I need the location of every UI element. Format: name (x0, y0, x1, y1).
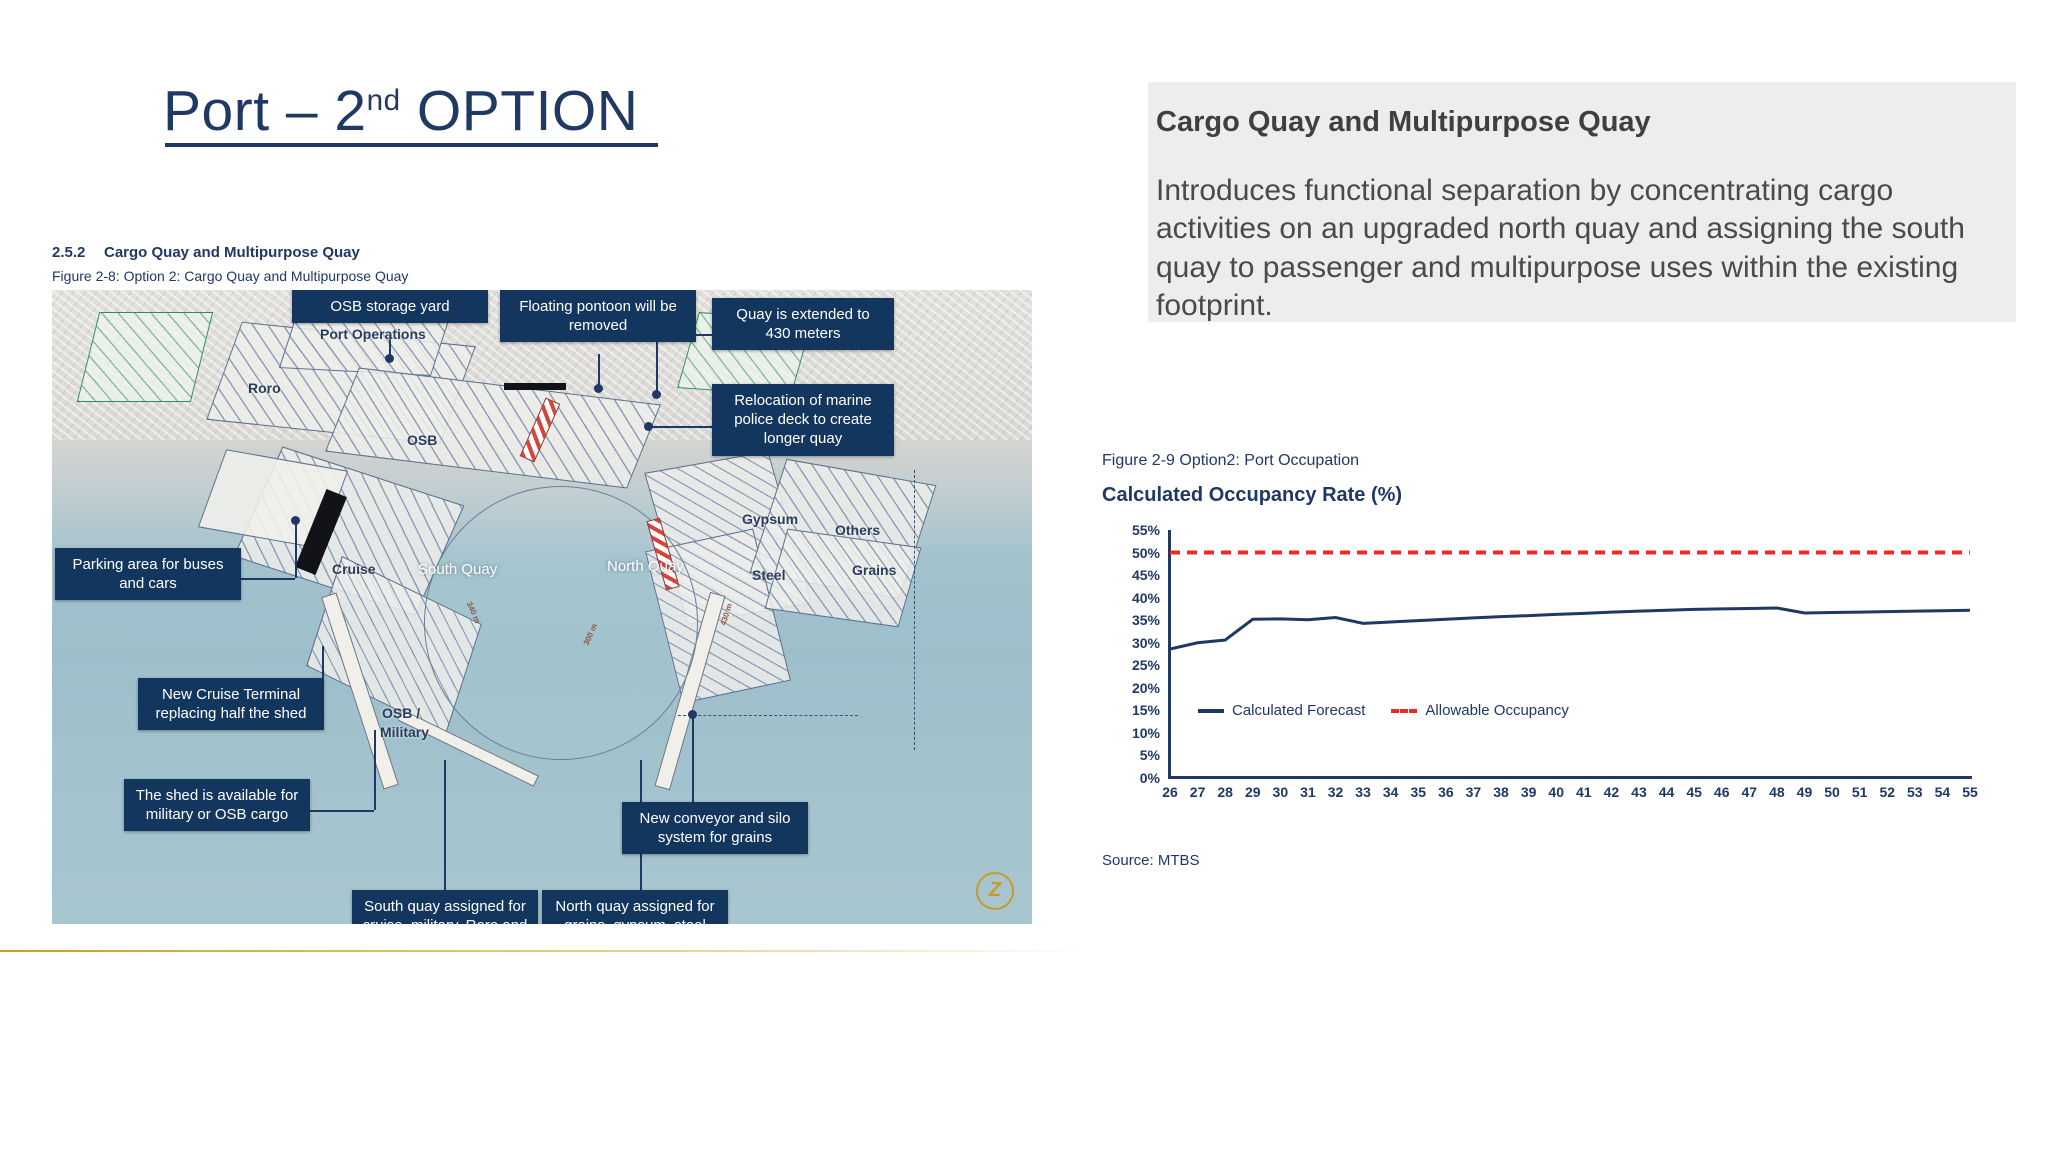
chart-figure-label: Figure 2-9 Option2: Port Occupation (1102, 452, 1359, 470)
callout-floating-pontoon[interactable]: Floating pontoon will be removed (500, 290, 696, 342)
chart-y-tick: 5% (1140, 747, 1160, 763)
chart-series-svg (1170, 530, 1970, 778)
map-label-osb-military-2: Military (380, 724, 429, 740)
chart-x-tick: 40 (1548, 784, 1564, 800)
map-label-others: Others (835, 522, 880, 538)
chart-x-tick: 41 (1576, 784, 1592, 800)
map-label-north-quay: North Quay (607, 558, 684, 575)
summary-panel-body: Introduces functional separation by conc… (1156, 172, 1986, 326)
chart-x-tick: 52 (1879, 784, 1895, 800)
leader-quay-extended-v (656, 334, 658, 394)
chart-x-tick: 38 (1493, 784, 1509, 800)
chart-x-tick: 28 (1217, 784, 1233, 800)
leader-dot-parking (291, 516, 300, 525)
chart-x-tick: 33 (1355, 784, 1371, 800)
chart-x-tick: 31 (1300, 784, 1316, 800)
chart-title: Calculated Occupancy Rate (%) (1102, 484, 1402, 507)
chart-x-tick: 29 (1245, 784, 1261, 800)
chart-x-tick: 49 (1797, 784, 1813, 800)
chart-y-tick: 0% (1140, 770, 1160, 786)
chart-x-tick: 53 (1907, 784, 1923, 800)
title-underline (165, 143, 658, 147)
chart-y-tick: 20% (1132, 680, 1160, 696)
page-title-tail: OPTION (401, 79, 639, 143)
leader-dot-pontoon (594, 384, 603, 393)
chart-x-tick: 55 (1962, 784, 1978, 800)
chart-y-tick: 25% (1132, 657, 1160, 673)
chart-y-tick: 15% (1132, 702, 1160, 718)
map-label-gypsum: Gypsum (742, 511, 798, 527)
chart-x-axis-labels: 2627282930313233343536373839404142434445… (1168, 784, 1972, 808)
chart-x-tick: 36 (1438, 784, 1454, 800)
legend-label-calculated-forecast: Calculated Forecast (1232, 702, 1365, 719)
map-label-south-quay: South Quay (418, 561, 497, 578)
map-parcel-green-west (77, 312, 213, 402)
callout-osb-storage-yard[interactable]: OSB storage yard (292, 290, 488, 323)
leader-dot-marine-police (644, 422, 653, 431)
callout-shed-available[interactable]: The shed is available for military or OS… (124, 779, 310, 831)
legend-label-allowable-occupancy: Allowable Occupancy (1425, 702, 1568, 719)
chart-x-tick: 43 (1631, 784, 1647, 800)
chart-y-axis-labels: 55%50%45%40%35%30%25%20%15%10%5%0% (1102, 530, 1160, 778)
chart-x-tick: 37 (1466, 784, 1482, 800)
chart-y-tick: 35% (1132, 612, 1160, 628)
chart-x-tick: 46 (1714, 784, 1730, 800)
map-label-osb-north: OSB (407, 432, 437, 448)
chart-x-tick: 30 (1273, 784, 1289, 800)
chart-x-tick: 45 (1686, 784, 1702, 800)
chart-y-tick: 10% (1132, 725, 1160, 741)
callout-new-conveyor[interactable]: New conveyor and silo system for grains (622, 802, 808, 854)
map-pontoon-dark (504, 383, 566, 390)
leader-dot-osb-storage (385, 354, 394, 363)
map-label-steel: Steel (752, 567, 785, 583)
chart-x-tick: 42 (1604, 784, 1620, 800)
chart-y-tick: 55% (1132, 522, 1160, 538)
callout-new-cruise-terminal[interactable]: New Cruise Terminal replacing half the s… (138, 678, 324, 730)
map-label-port-operations: Port Operations (320, 326, 426, 342)
map-boundary-dashed-east (914, 470, 915, 750)
figure-section-title: Cargo Quay and Multipurpose Quay (104, 244, 360, 261)
callout-parking-area[interactable]: Parking area for buses and cars (55, 548, 241, 600)
leader-dot-quay-extended (652, 390, 661, 399)
legend-item-allowable-occupancy: Allowable Occupancy (1391, 702, 1568, 719)
chart-source-note: Source: MTBS (1102, 852, 1200, 869)
chart-x-tick: 50 (1824, 784, 1840, 800)
leader-dot-conveyor (688, 710, 697, 719)
chart-series-calculated-forecast (1170, 608, 1970, 649)
leader-south-assigned (444, 760, 446, 890)
page-title-ordinal: nd (367, 84, 401, 117)
leader-shed (310, 810, 374, 812)
chart-x-tick: 44 (1659, 784, 1675, 800)
chart-x-tick: 35 (1410, 784, 1426, 800)
page-title: Port – 2nd OPTION (163, 78, 638, 144)
leader-parking (241, 578, 295, 580)
chart-x-tick: 27 (1190, 784, 1206, 800)
map-conveyor-line (678, 715, 858, 716)
chart-x-tick: 47 (1742, 784, 1758, 800)
callout-south-quay-assigned[interactable]: South quay assigned for cruise, military… (352, 890, 538, 924)
legend-swatch-dashed-icon (1391, 709, 1417, 713)
chart-plot-area (1170, 530, 1970, 778)
chart-x-tick: 51 (1852, 784, 1868, 800)
occupancy-chart: Figure 2-9 Option2: Port Occupation Calc… (1102, 452, 2022, 912)
chart-x-tick: 54 (1935, 784, 1951, 800)
page-title-main: Port – 2 (163, 79, 367, 143)
leader-shed-v (374, 730, 376, 810)
callout-north-quay-assigned[interactable]: North quay assigned for grains, gypsum, … (542, 890, 728, 924)
map-label-osb-military-1: OSB / (382, 705, 420, 721)
legend-item-calculated-forecast: Calculated Forecast (1198, 702, 1365, 719)
leader-marine-police (648, 426, 714, 428)
port-map: Port Operations Roro OSB Cruise South Qu… (52, 290, 1032, 924)
legend-swatch-solid-icon (1198, 709, 1224, 713)
chart-legend: Calculated Forecast Allowable Occupancy (1198, 702, 1569, 719)
figure-panel: 2.5.2 Cargo Quay and Multipurpose Quay F… (0, 232, 1092, 952)
map-label-cruise: Cruise (332, 561, 376, 577)
map-watermark-logo-icon: Z (976, 872, 1014, 910)
map-label-roro: Roro (248, 380, 281, 396)
figure-bottom-rule (0, 950, 1092, 952)
map-label-grains: Grains (852, 562, 896, 578)
chart-x-tick: 48 (1769, 784, 1785, 800)
chart-x-tick: 34 (1383, 784, 1399, 800)
figure-caption: Figure 2-8: Option 2: Cargo Quay and Mul… (52, 268, 408, 284)
chart-y-tick: 30% (1132, 635, 1160, 651)
leader-parking-v (295, 520, 297, 578)
chart-x-tick: 39 (1521, 784, 1537, 800)
callout-marine-police[interactable]: Relocation of marine police deck to crea… (712, 384, 894, 456)
chart-x-tick: 32 (1328, 784, 1344, 800)
figure-section-number: 2.5.2 (52, 244, 85, 261)
summary-panel-heading: Cargo Quay and Multipurpose Quay (1156, 106, 1996, 139)
chart-x-tick: 26 (1162, 784, 1178, 800)
chart-plot-wrapper: 55%50%45%40%35%30%25%20%15%10%5%0% 26272… (1102, 522, 2022, 852)
callout-quay-extended[interactable]: Quay is extended to 430 meters (712, 298, 894, 350)
chart-y-tick: 45% (1132, 567, 1160, 583)
chart-y-tick: 40% (1132, 590, 1160, 606)
chart-y-tick: 50% (1132, 545, 1160, 561)
